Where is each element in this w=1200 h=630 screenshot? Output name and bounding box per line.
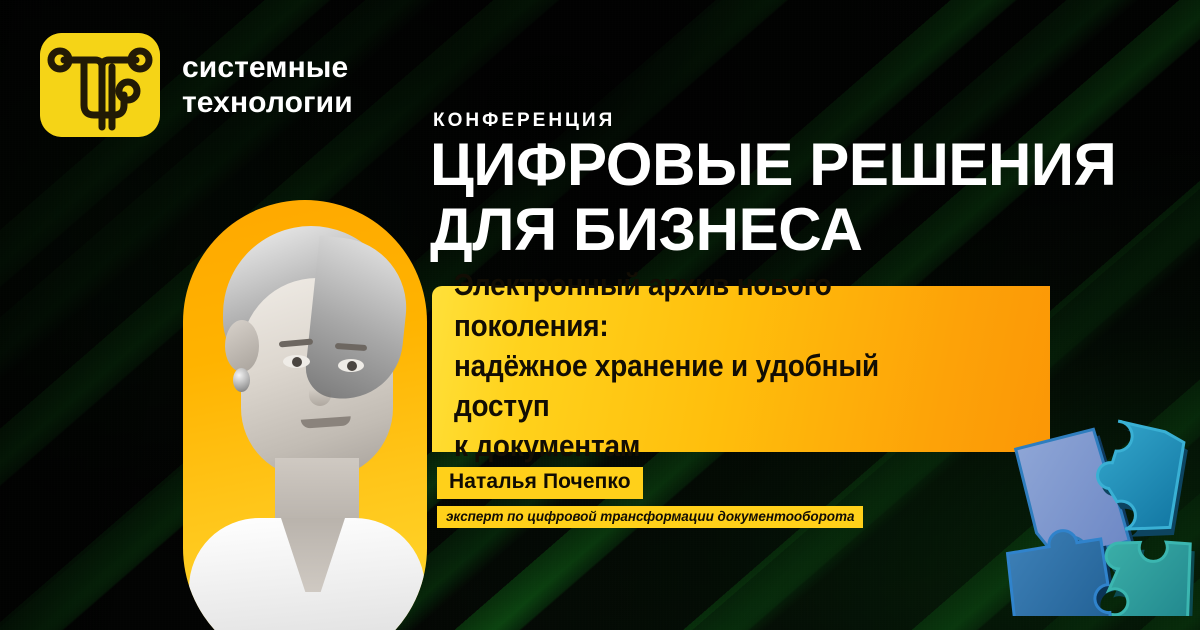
brand-name-line-1: системные: [182, 50, 353, 85]
portrait-illustration: [183, 200, 427, 630]
event-type-label: КОНФЕРЕНЦИЯ: [433, 110, 615, 132]
puzzle-pieces-icon: [978, 402, 1200, 616]
speaker-name-chip: Наталья Почепко: [437, 467, 643, 499]
brand-logo: системные технологии: [40, 33, 353, 137]
brand-name: системные технологии: [182, 50, 353, 120]
circuit-monogram-icon: [40, 33, 160, 137]
brand-name-line-2: технологии: [182, 85, 353, 120]
topic-panel: Электронный архив нового поколения: надё…: [432, 286, 1050, 452]
speaker-role-chip: эксперт по цифровой трансформации докуме…: [437, 506, 863, 528]
speaker-portrait: [183, 200, 427, 630]
event-title: ЦИФРОВЫЕ РЕШЕНИЯ ДЛЯ БИЗНЕСА: [430, 133, 1116, 263]
topic-text: Электронный архив нового поколения: надё…: [454, 265, 971, 466]
conference-banner: системные технологии КОНФЕРЕНЦИЯ ЦИФРОВЫ…: [0, 0, 1200, 630]
